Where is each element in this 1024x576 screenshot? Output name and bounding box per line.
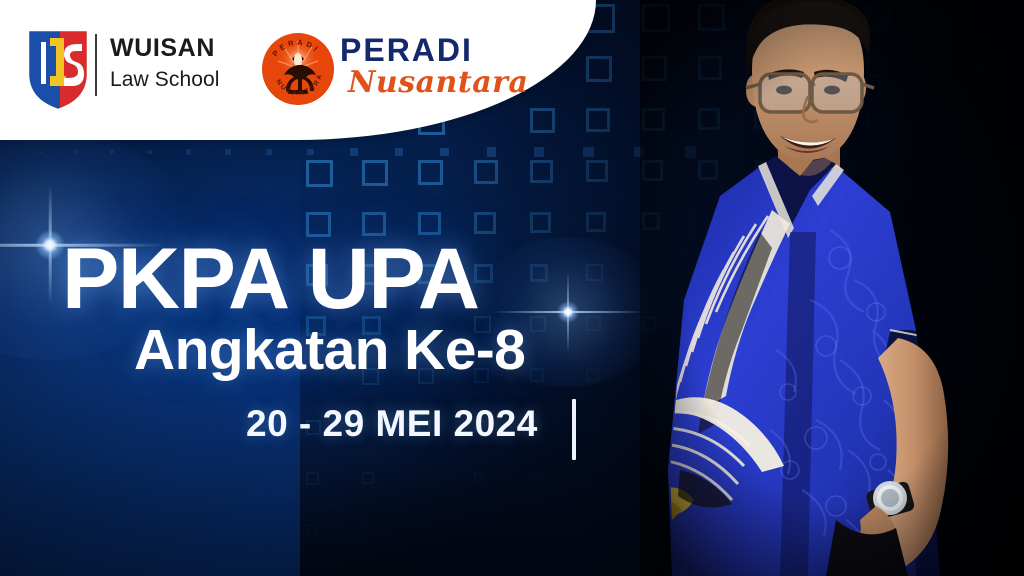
wuisan-name: WUISAN [110,36,220,61]
page-subtitle: Angkatan Ke-8 [134,322,525,379]
peradi-title: PERADI [340,34,528,66]
wls-shield-icon [26,28,90,112]
date-divider-rule [572,399,576,460]
peradi-seal-icon: PERADI NUSANTARA [262,33,334,105]
wuisan-brand: WUISAN Law School [110,36,220,90]
peradi-brand: PERADI Nusantara [340,34,528,98]
presenter-portrait [640,0,1024,576]
page-title: PKPA UPA [62,240,478,319]
peradi-script: Nusantara [348,68,528,98]
event-date: 20 - 29 MEI 2024 [246,405,538,442]
wuisan-subtitle: Law School [110,69,220,90]
logo-divider [95,34,97,96]
promo-banner: WUISAN Law School [0,0,1024,576]
